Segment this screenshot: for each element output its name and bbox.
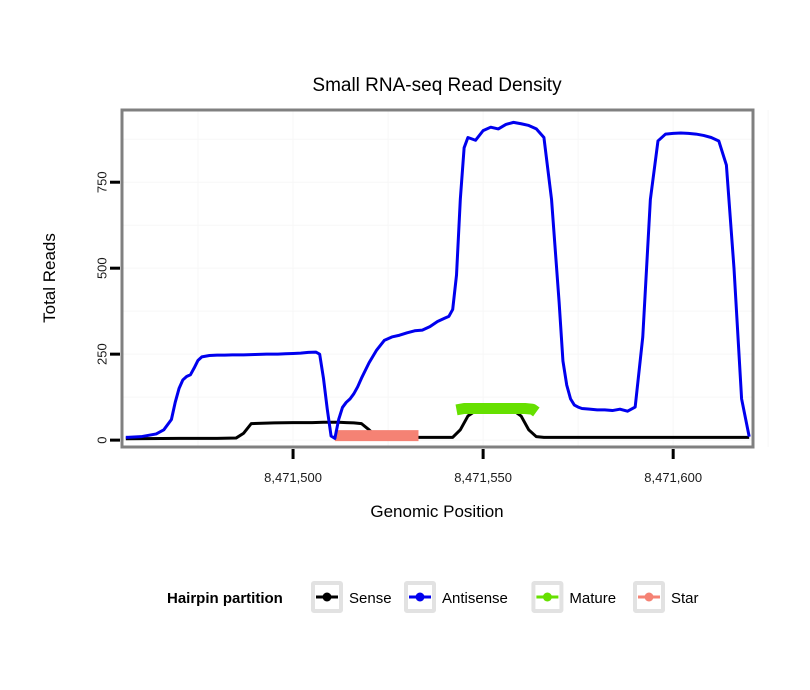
legend-entry-label: Star bbox=[671, 590, 699, 607]
x-tick-label: 8,471,500 bbox=[264, 470, 322, 485]
y-axis-ticks: 0250500750 bbox=[95, 171, 121, 443]
legend-key-point bbox=[645, 593, 654, 602]
y-tick-label: 500 bbox=[95, 257, 110, 279]
chart-title: Small RNA-seq Read Density bbox=[312, 75, 562, 96]
x-tick-label: 8,471,550 bbox=[454, 470, 512, 485]
series-line-mature bbox=[457, 408, 537, 411]
legend-entry-star[interactable]: Star bbox=[635, 583, 699, 611]
y-tick-label: 250 bbox=[95, 343, 110, 365]
legend-entry-label: Mature bbox=[569, 590, 616, 607]
legend-entry-antisense[interactable]: Antisense bbox=[406, 583, 508, 611]
chart-figure: Small RNA-seq Read Density 8,471,5008,47… bbox=[0, 0, 810, 690]
legend-entry-sense[interactable]: Sense bbox=[313, 583, 392, 611]
legend-entry-mature[interactable]: Mature bbox=[533, 583, 616, 611]
legend-key-point bbox=[323, 593, 332, 602]
y-tick-label: 0 bbox=[95, 437, 110, 444]
y-tick-label: 750 bbox=[95, 171, 110, 193]
plot-panel-background bbox=[122, 110, 753, 447]
legend-entry-label: Antisense bbox=[442, 590, 508, 607]
x-axis-ticks: 8,471,5008,471,5508,471,600 bbox=[264, 449, 702, 485]
x-tick-label: 8,471,600 bbox=[644, 470, 702, 485]
legend-key-point bbox=[416, 593, 425, 602]
legend-entry-label: Sense bbox=[349, 590, 392, 607]
y-axis-title: Total Reads bbox=[40, 233, 59, 323]
legend-entries: SenseAntisenseMatureStar bbox=[313, 583, 699, 611]
read-density-chart: Small RNA-seq Read Density 8,471,5008,47… bbox=[0, 0, 810, 690]
chart-legend: Hairpin partition SenseAntisenseMatureSt… bbox=[167, 583, 699, 611]
x-axis-title: Genomic Position bbox=[370, 502, 503, 521]
legend-key-point bbox=[543, 593, 552, 602]
plot-panel bbox=[122, 110, 768, 447]
legend-title: Hairpin partition bbox=[167, 590, 283, 607]
